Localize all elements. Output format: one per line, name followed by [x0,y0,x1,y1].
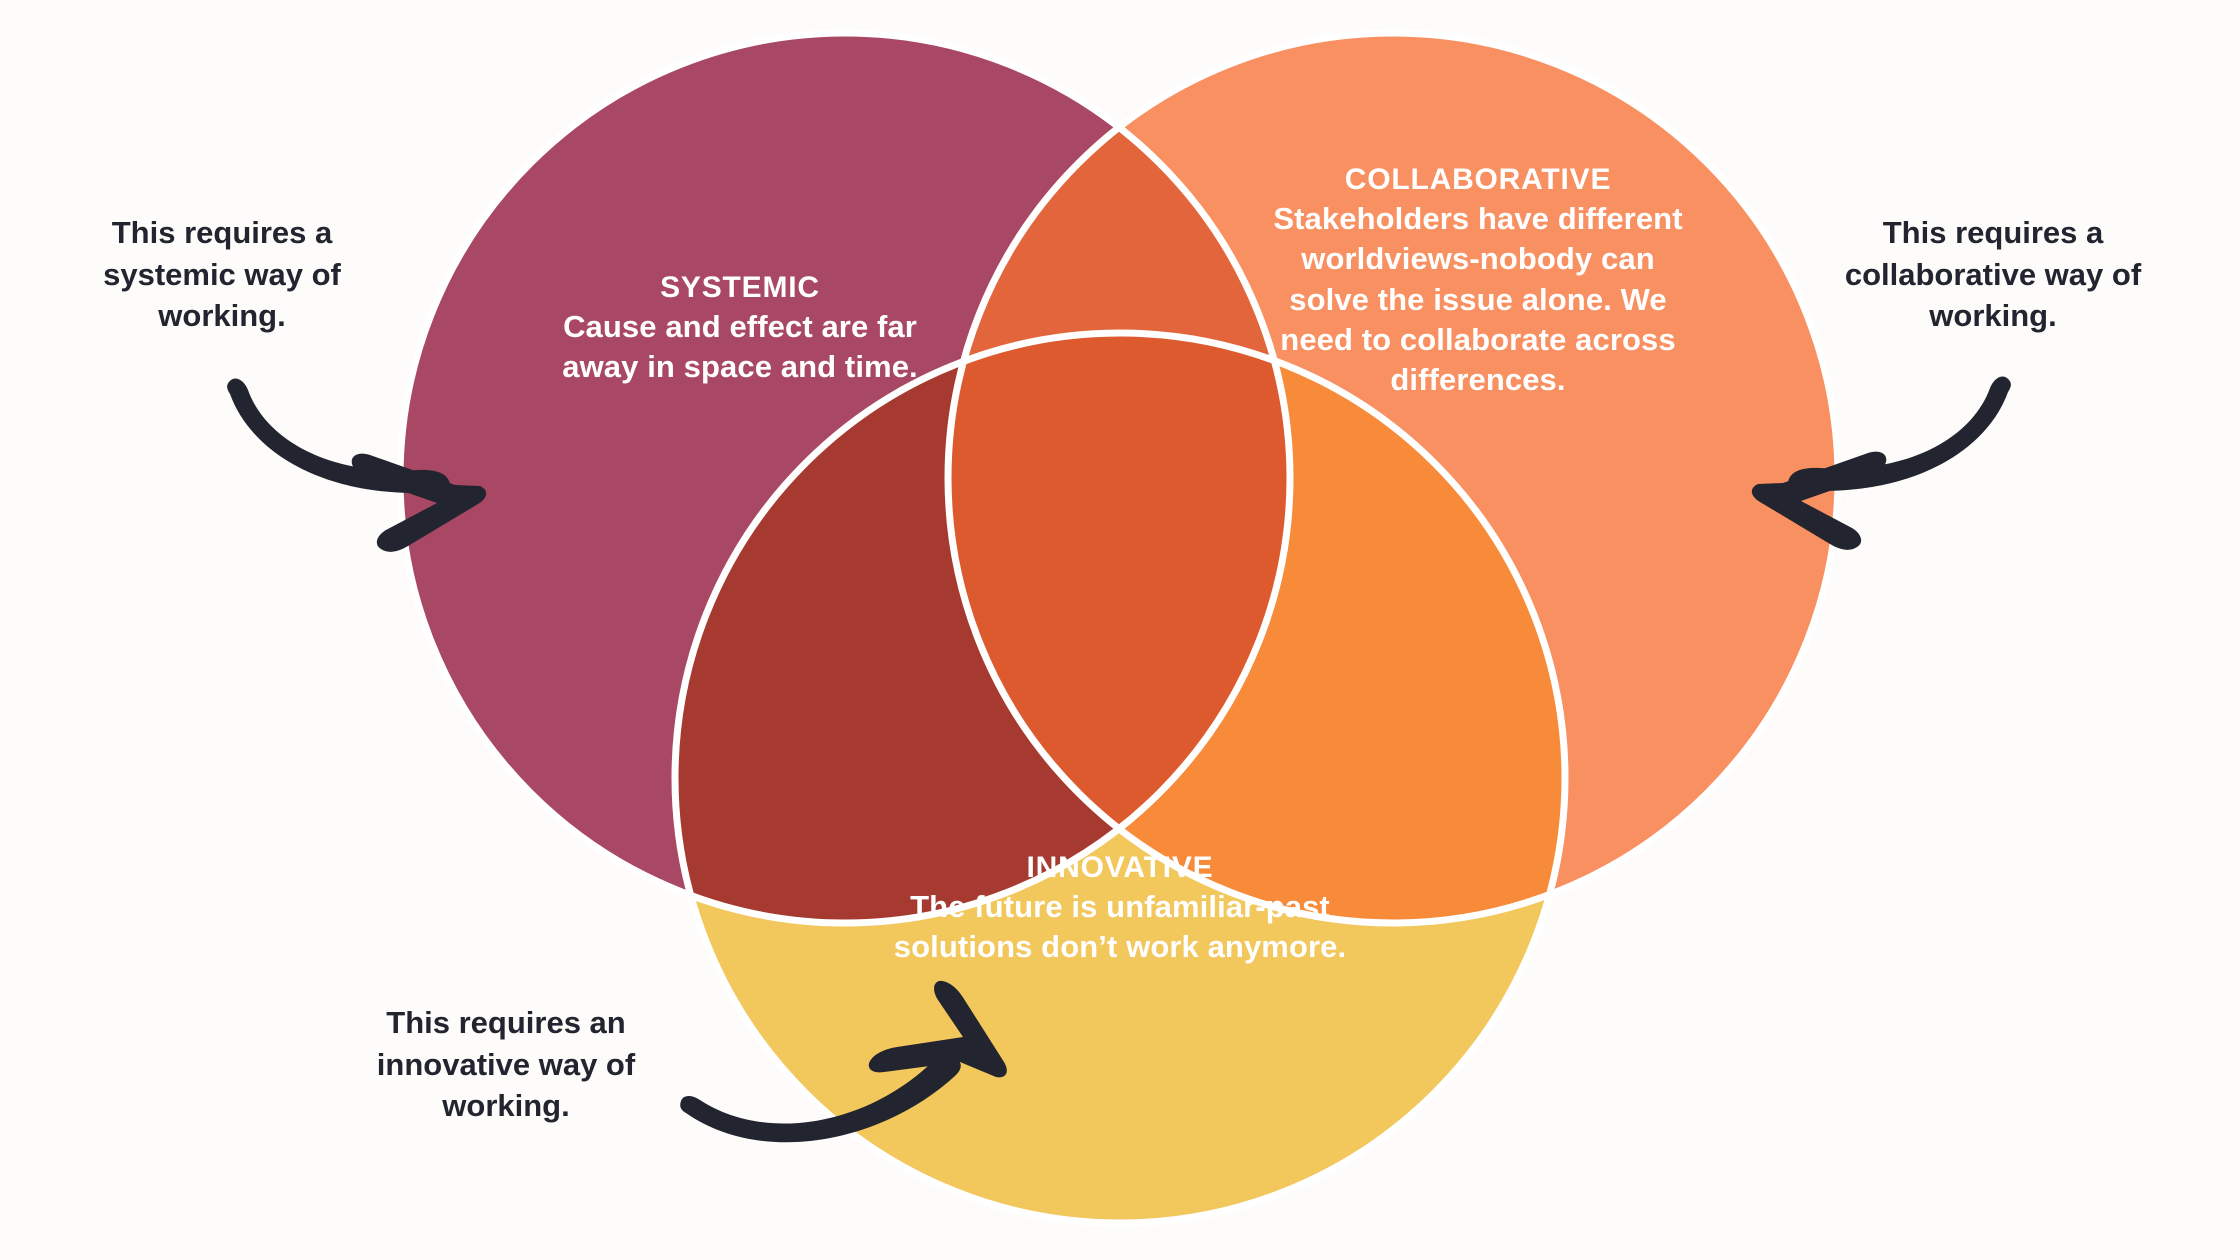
venn-svg [0,0,2240,1260]
venn-diagram-canvas: SYSTEMIC Cause and effect are far away i… [0,0,2240,1260]
